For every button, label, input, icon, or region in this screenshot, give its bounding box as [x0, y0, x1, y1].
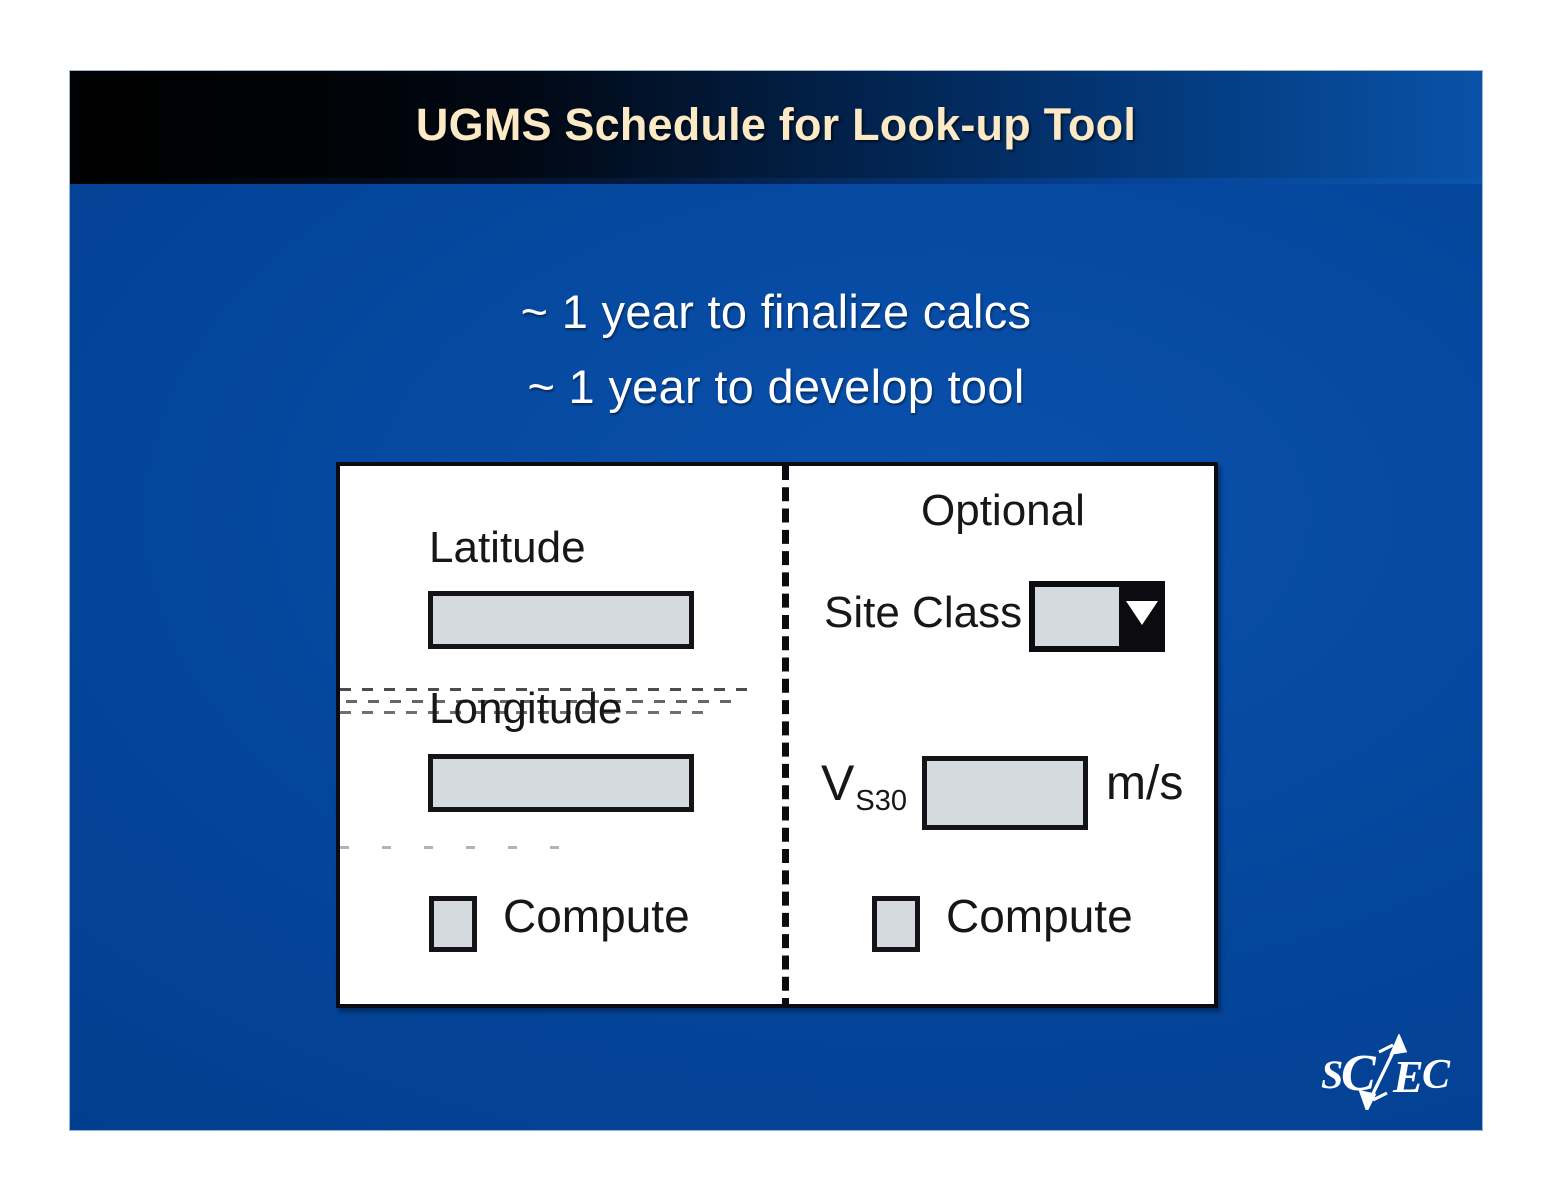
- bullet-line-finalize-calcs: ~ 1 year to finalize calcs: [70, 284, 1482, 339]
- compute-button-left[interactable]: [429, 896, 477, 952]
- compute-label-right: Compute: [946, 889, 1133, 943]
- latitude-label: Latitude: [429, 526, 586, 570]
- svg-text:E: E: [1392, 1051, 1424, 1102]
- vs30-units-label: m/s: [1106, 760, 1183, 808]
- latitude-input[interactable]: [428, 591, 694, 649]
- bullet-line-develop-tool: ~ 1 year to develop tool: [70, 359, 1482, 414]
- longitude-input[interactable]: [428, 754, 694, 812]
- svg-text:C: C: [1422, 1052, 1451, 1098]
- slide-title-underline: [70, 178, 1482, 184]
- site-class-label: Site Class: [824, 591, 1022, 635]
- required-inputs-column: Latitude Longitude Compute: [340, 466, 780, 1008]
- chevron-down-icon: [1126, 601, 1158, 625]
- page-title: UGMS Schedule for Look-up Tool: [70, 99, 1482, 151]
- compute-label-left: Compute: [503, 889, 690, 943]
- presentation-slide: UGMS Schedule for Look-up Tool ~ 1 year …: [70, 71, 1482, 1130]
- vs30-label: VS30: [821, 758, 906, 808]
- svg-text:S: S: [1321, 1052, 1343, 1097]
- scec-logo: S C E C: [1321, 1034, 1457, 1110]
- site-class-dropdown-value: [1035, 587, 1119, 646]
- scan-artifact-line: [340, 846, 590, 849]
- compute-button-right[interactable]: [872, 896, 920, 952]
- longitude-label: Longitude: [429, 687, 622, 731]
- lookup-tool-mockup-panel: Latitude Longitude Compute Optional Site…: [336, 462, 1218, 1008]
- site-class-dropdown[interactable]: [1029, 581, 1165, 652]
- optional-inputs-column: Optional Site Class VS30 m/s Compute: [786, 466, 1218, 1008]
- vs30-symbol: V: [821, 755, 854, 811]
- optional-heading: Optional: [921, 489, 1085, 533]
- vs30-subscript: S30: [855, 785, 907, 817]
- vs30-input[interactable]: [922, 756, 1088, 830]
